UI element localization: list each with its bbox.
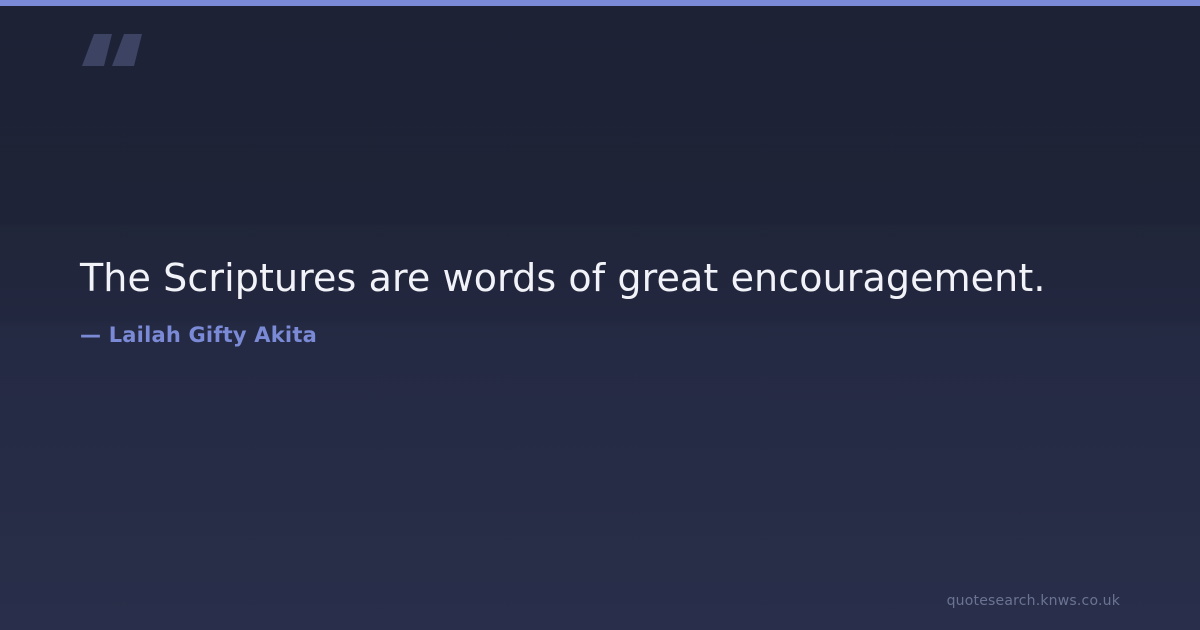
top-accent-bar [0, 0, 1200, 6]
open-quote-icon [78, 18, 158, 90]
quote-attribution: — Lailah Gifty Akita [80, 303, 1120, 348]
quote-card: The Scriptures are words of great encour… [0, 0, 1200, 630]
site-watermark: quotesearch.knws.co.uk [947, 594, 1120, 608]
quote-text: The Scriptures are words of great encour… [80, 254, 1120, 303]
attribution-author-name: Lailah Gifty Akita [109, 323, 317, 347]
attribution-dash: — [80, 323, 101, 347]
quote-content: The Scriptures are words of great encour… [80, 254, 1120, 348]
